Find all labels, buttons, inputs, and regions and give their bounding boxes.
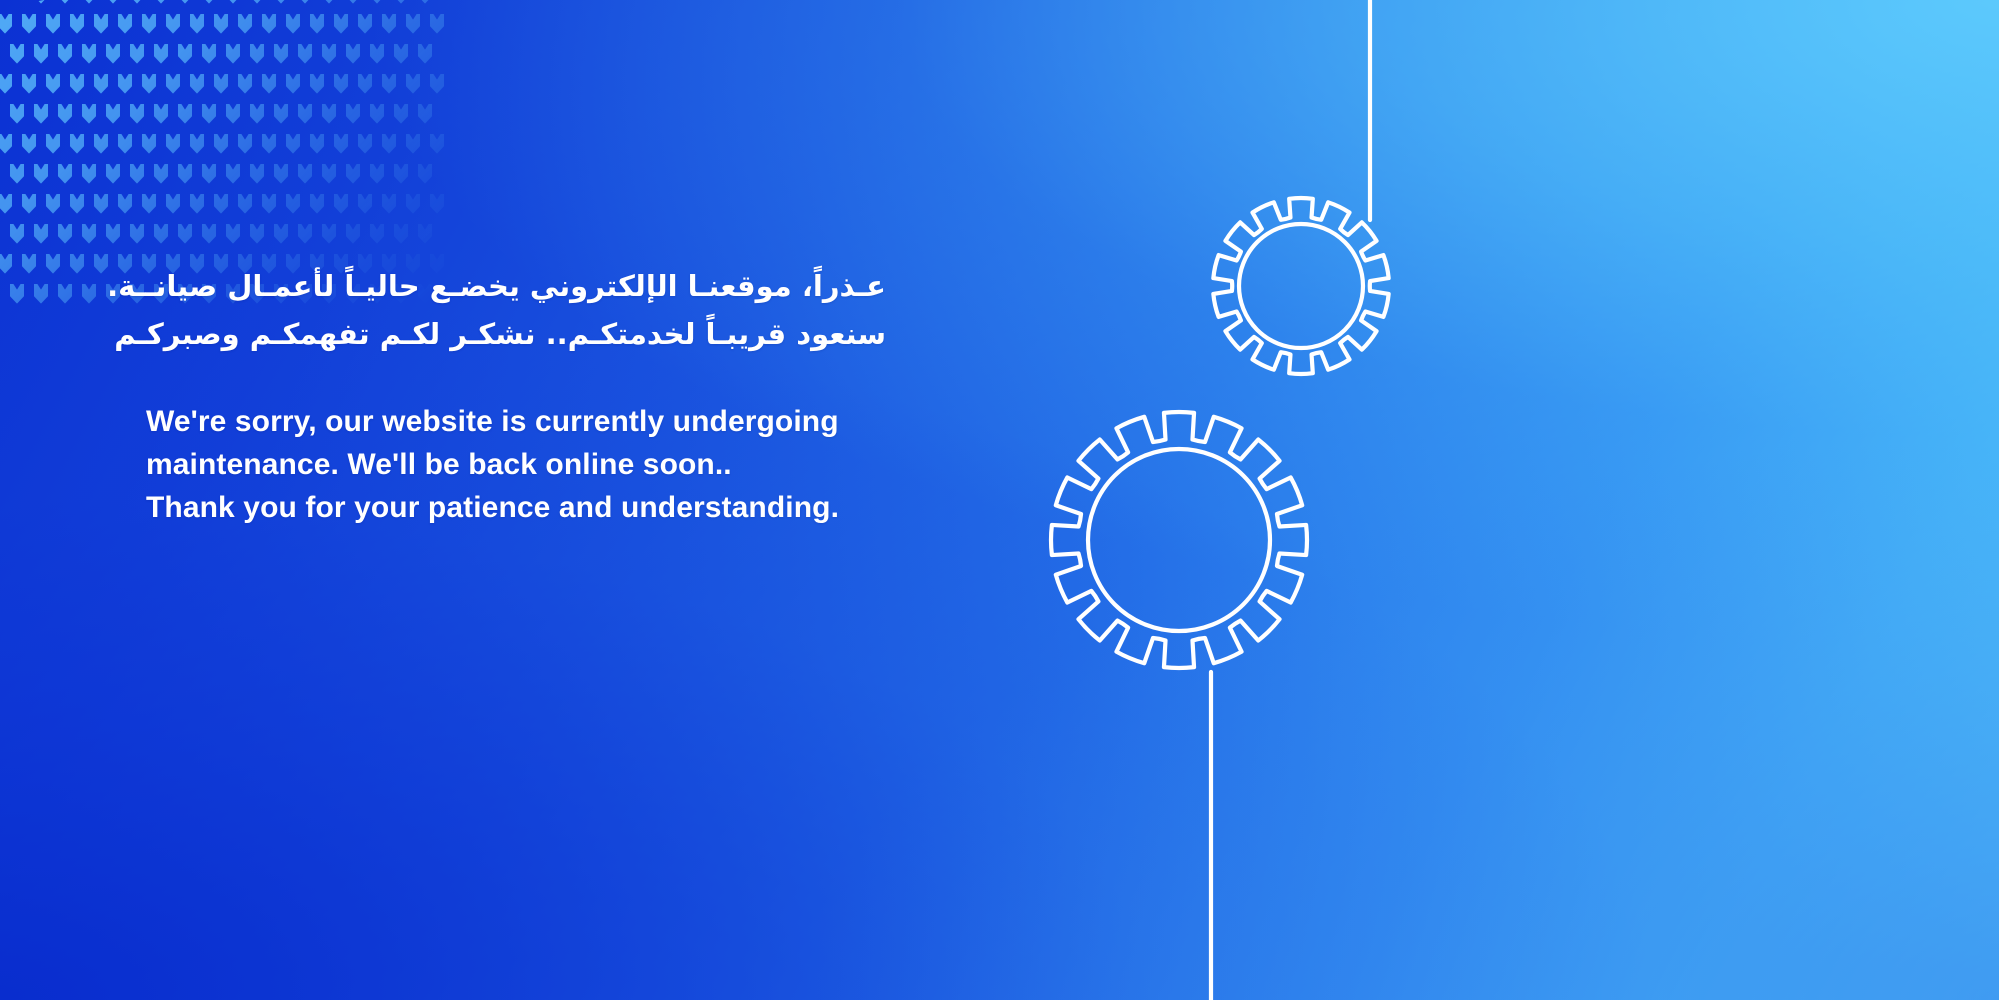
english-message: We're sorry, our website is currently un…	[146, 400, 926, 529]
arabic-line-1: عـذراً، موقعنـا الإلكتروني يخضـع حاليـاً…	[146, 262, 886, 310]
english-line-1: We're sorry, our website is currently un…	[146, 400, 926, 443]
english-line-3: Thank you for your patience and understa…	[146, 486, 926, 529]
arabic-line-2: سنعود قريبـاً لخدمتكـم.. نشكـر لكـم تفهم…	[146, 310, 886, 358]
maintenance-message: عـذراً، موقعنـا الإلكتروني يخضـع حاليـاً…	[146, 262, 926, 529]
english-line-2: maintenance. We'll be back online soon..	[146, 443, 926, 486]
arabic-message: عـذراً، موقعنـا الإلكتروني يخضـع حاليـاً…	[146, 262, 886, 358]
maintenance-page: عـذراً، موقعنـا الإلكتروني يخضـع حاليـاً…	[0, 0, 1999, 1000]
